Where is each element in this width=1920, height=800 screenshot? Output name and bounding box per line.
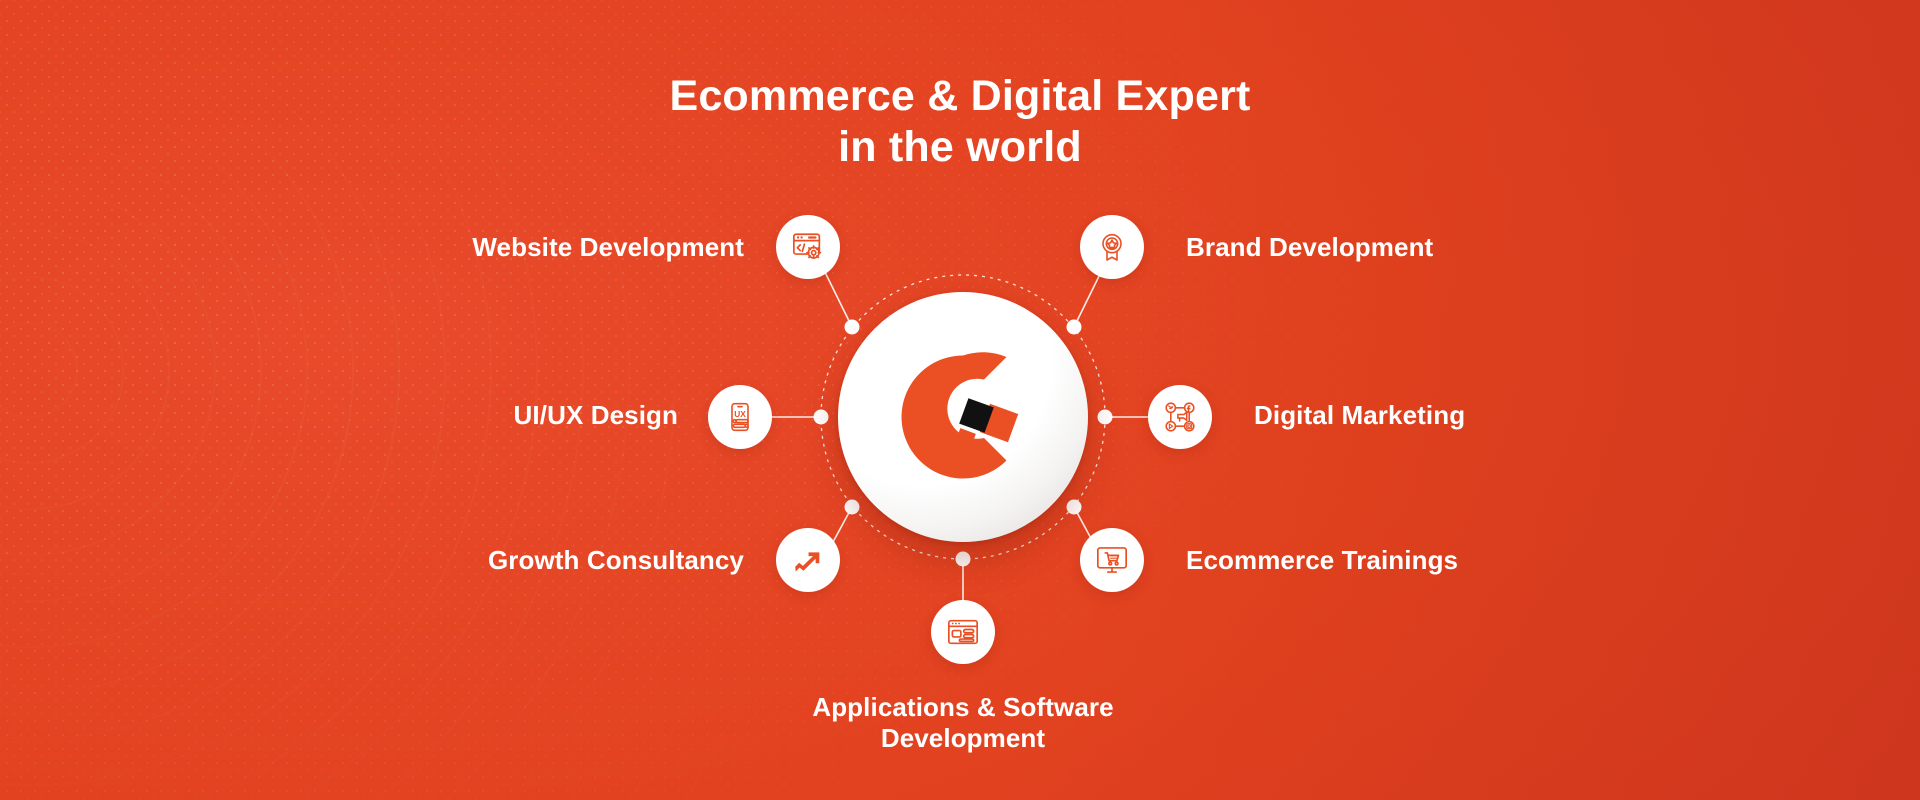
- service-node-ecommerce-trainings[interactable]: [1080, 528, 1144, 592]
- service-label-ecommerce-trainings: Ecommerce Trainings: [1186, 545, 1458, 576]
- service-label-text: Digital Marketing: [1254, 400, 1465, 430]
- hero-banner: Ecommerce & Digital Expert in the world: [0, 0, 1920, 800]
- service-node-ui-ux-design[interactable]: UX: [708, 385, 772, 449]
- service-node-website-development[interactable]: [776, 215, 840, 279]
- service-node-applications-software-development[interactable]: [931, 600, 995, 664]
- page-title: Ecommerce & Digital Expert in the world: [0, 71, 1920, 172]
- service-label-text-line-1: Applications & Software: [753, 692, 1173, 723]
- service-label-website-development: Website Development: [0, 232, 754, 263]
- service-label-text-line-2: Development: [753, 723, 1173, 754]
- browser-code-gear-icon: [791, 230, 825, 264]
- service-label-ui-ux-design: UI/UX Design: [0, 400, 688, 431]
- social-megaphone-network-icon: [1163, 400, 1197, 434]
- award-badge-star-icon: [1096, 231, 1128, 263]
- service-label-text: Website Development: [472, 232, 744, 262]
- service-label-growth-consultancy: Growth Consultancy: [0, 545, 754, 576]
- page-title-line-2: in the world: [0, 122, 1920, 173]
- service-label-digital-marketing: Digital Marketing: [1254, 400, 1465, 431]
- service-node-digital-marketing[interactable]: [1148, 385, 1212, 449]
- hub-logo-sphere: [838, 292, 1088, 542]
- service-label-applications-software-development: Applications & Software Development: [753, 692, 1173, 754]
- service-label-text: Brand Development: [1186, 232, 1433, 262]
- mobile-ux-icon: UX: [724, 401, 756, 433]
- monitor-shopping-cart-icon: [1095, 543, 1129, 577]
- service-node-growth-consultancy[interactable]: [776, 528, 840, 592]
- svg-text:UX: UX: [734, 409, 746, 419]
- service-label-text: UI/UX Design: [514, 400, 678, 430]
- app-window-blocks-icon: [946, 615, 980, 649]
- growth-arrow-up-icon: [791, 543, 825, 577]
- service-label-brand-development: Brand Development: [1186, 232, 1433, 263]
- company-c-logo: [888, 342, 1038, 492]
- service-node-brand-development[interactable]: [1080, 215, 1144, 279]
- service-label-text: Growth Consultancy: [488, 545, 744, 575]
- page-title-line-1: Ecommerce & Digital Expert: [669, 72, 1250, 120]
- service-label-text: Ecommerce Trainings: [1186, 545, 1458, 575]
